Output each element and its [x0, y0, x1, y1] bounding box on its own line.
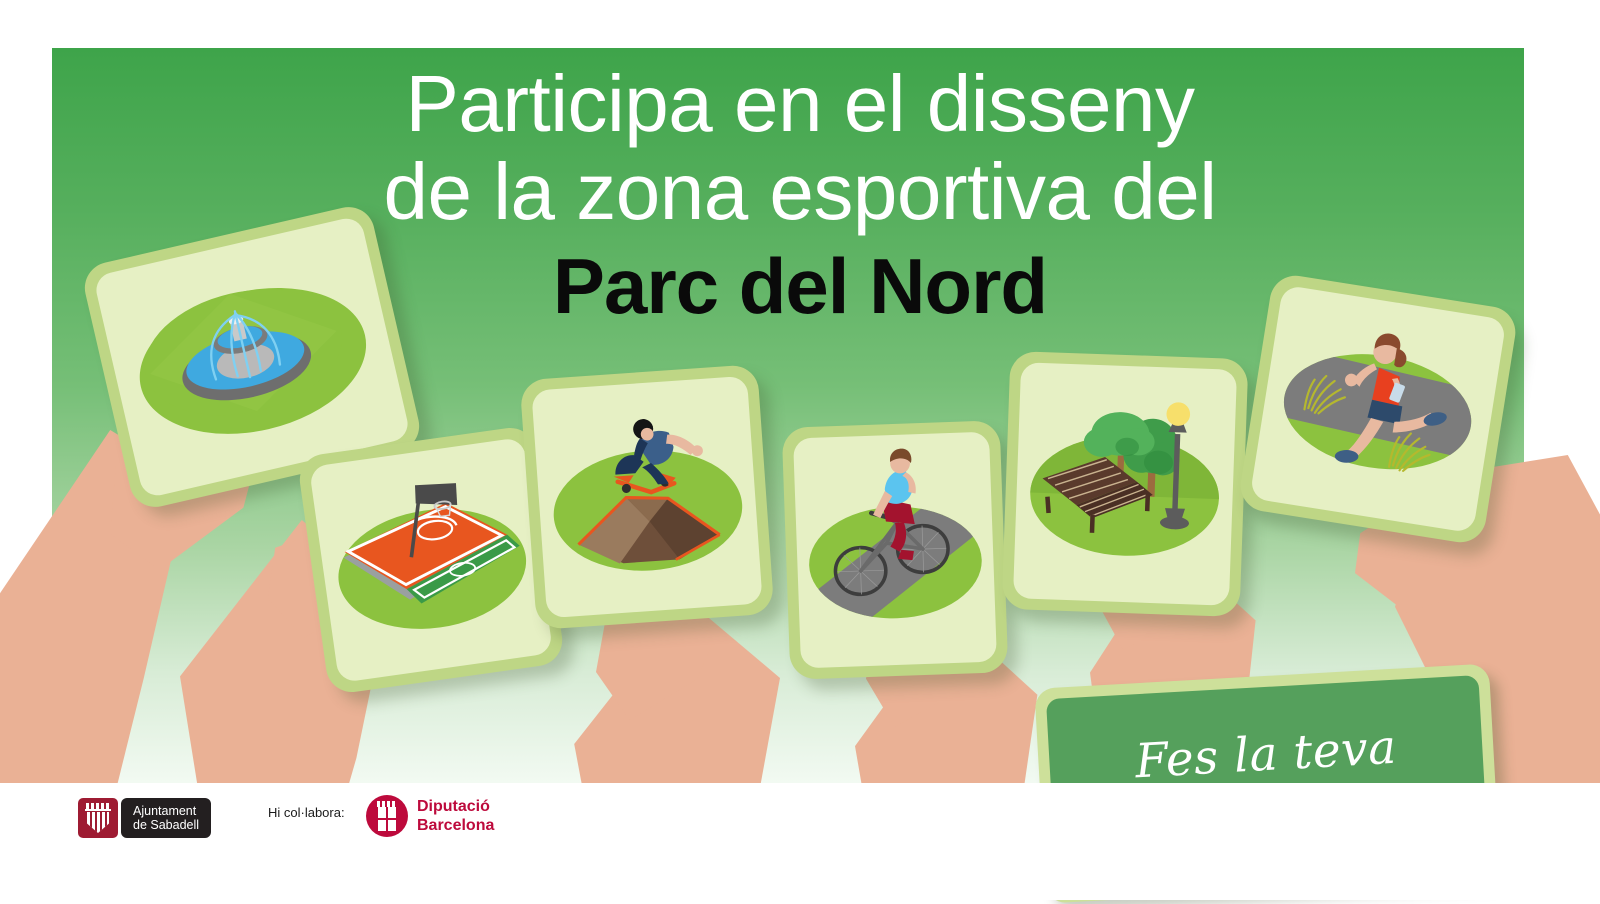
diputacio-line-2: Barcelona — [417, 816, 494, 835]
diputacio-barcelona-seal-icon — [366, 795, 408, 837]
ajuntament-line-2: de Sabadell — [133, 818, 199, 832]
card-skatepark-inner — [531, 376, 762, 619]
card-bike-lane-inner — [793, 432, 997, 669]
card-park-bench[interactable] — [1002, 351, 1249, 617]
diputacio-name: Diputació Barcelona — [417, 797, 494, 835]
park-bench-tree-icon — [1013, 362, 1237, 605]
sports-court-icon — [309, 437, 553, 683]
diputacio-logo: Diputació Barcelona — [366, 795, 494, 837]
card-running-track[interactable] — [1237, 272, 1519, 546]
card-park-bench-inner — [1013, 362, 1237, 605]
ajuntament-logo: Ajuntament de Sabadell — [78, 798, 211, 838]
ajuntament-name: Ajuntament de Sabadell — [121, 798, 211, 838]
diputacio-line-1: Diputació — [417, 797, 494, 816]
poster-canvas: Participa en el disseny de la zona espor… — [0, 0, 1600, 900]
skatepark-icon — [531, 376, 762, 619]
collaborator-label: Hi col·labora: — [268, 805, 345, 820]
card-running-track-inner — [1249, 285, 1506, 534]
runner-icon — [1249, 285, 1506, 534]
card-bike-lane[interactable] — [782, 420, 1009, 679]
card-sports-court-inner — [309, 437, 553, 683]
ajuntament-line-1: Ajuntament — [133, 804, 199, 818]
cyclist-icon — [793, 432, 997, 669]
sabadell-coat-of-arms-icon — [78, 798, 118, 838]
card-skatepark[interactable] — [520, 364, 775, 630]
footer-logos: Ajuntament de Sabadell Hi col·labora: Di… — [0, 783, 1600, 900]
